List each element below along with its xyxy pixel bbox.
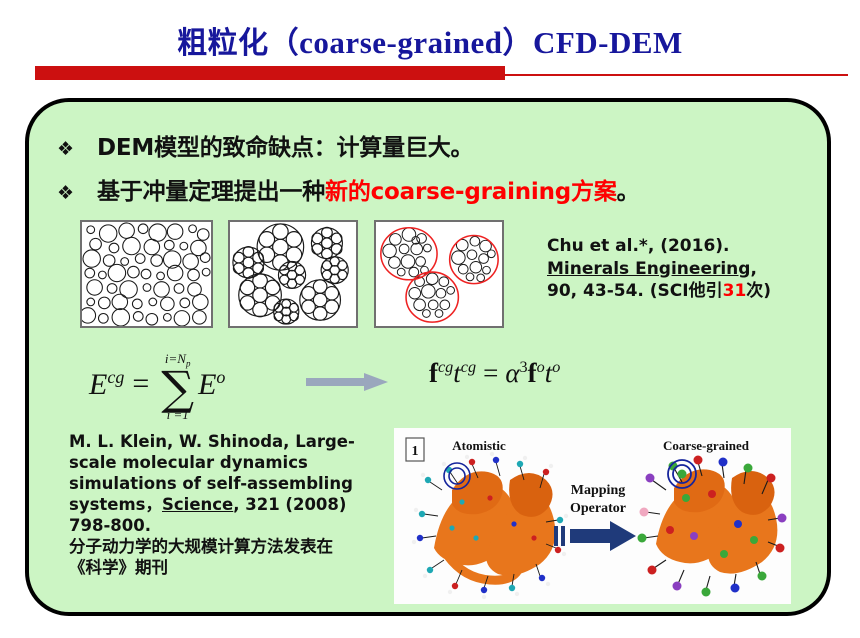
page-title-tail: CFD-DEM: [533, 25, 683, 60]
citation-chu: Chu et al.*, (2016). Minerals Engineerin…: [547, 235, 837, 303]
citation-chu-count: 31: [723, 281, 747, 301]
eq-r-alpha-sup: 3: [520, 358, 528, 376]
eq-lhs: Ecg: [89, 367, 124, 402]
page-title-cjk-close: ）: [502, 26, 533, 61]
coarse-grained-label: Coarse-grained: [663, 438, 750, 453]
bullet-diamond-icon: ❖: [57, 138, 97, 160]
mapping-label-line1: Mapping: [571, 483, 625, 498]
citation-klein-line7: 《科学》期刊: [69, 558, 389, 579]
citation-chu-line3-post: 次): [746, 281, 771, 301]
citation-klein-line5: 798-800.: [69, 516, 389, 537]
bullet-item-1-label: DEM模型的致命缺点：计算量巨大。: [97, 128, 473, 162]
citation-klein-line1: M. L. Klein, W. Shinoda, Large-: [69, 432, 389, 453]
eq-r-f2: f: [528, 358, 537, 388]
eq-lhs-sym: E: [89, 368, 107, 401]
original-particles-graphic: [82, 222, 211, 326]
citation-chu-pages: 90, 43-54. (SCI他引: [547, 281, 723, 301]
eq-r-t1: t: [453, 358, 461, 388]
eq-r-sup3: o: [537, 358, 545, 376]
bullet-item-2-tail: 。: [617, 179, 640, 205]
eq-summand: Eo: [198, 367, 225, 402]
eq-summand-sup: o: [216, 367, 225, 387]
title-underline-thick: [35, 66, 505, 80]
grouped-particles-box: [228, 220, 358, 328]
panel-number-label: 1: [412, 444, 419, 459]
eq-r-f1: f: [429, 358, 438, 388]
bullet-item-2-label: 基于冲量定理提出一种新的coarse-graining方案。: [97, 172, 639, 206]
eq-r-sup2: cg: [461, 358, 476, 376]
citation-klein-line3: simulations of self-assembling: [69, 474, 389, 495]
bullet-item-2-highlight: 新的coarse-graining方案: [325, 179, 617, 205]
eq-r-sup1: cg: [438, 358, 453, 376]
mapping-operator-graphic: 1 Atomistic Coarse-grained: [394, 428, 791, 604]
eq-r-alpha: α: [505, 358, 519, 388]
eq-summand-sym: E: [198, 368, 216, 401]
bullet-item-2-lead: 基于冲量定理提出一种: [97, 179, 325, 205]
citation-klein-line4: systems，Science, 321 (2008): [69, 495, 389, 516]
citation-klein-journal: Science: [162, 495, 233, 514]
grouped-particles-graphic: [230, 222, 356, 326]
original-particles-box: [80, 220, 213, 328]
mapping-operator-figure: 1 Atomistic Coarse-grained: [394, 428, 791, 604]
equation-row: Ecg = i=Np ∑ i =1 Eo fcgtcg=α3foto: [69, 342, 809, 424]
eq-sum-lower: i =1: [167, 408, 189, 421]
equation-right: fcgtcg=α3foto: [429, 358, 560, 389]
bullet-item-1: ❖ DEM模型的致命缺点：计算量巨大。: [57, 128, 473, 162]
page-title-cjk: 粗粒化（: [177, 26, 299, 61]
eq-summation: i=Np ∑ i =1: [161, 352, 194, 421]
citation-klein-line6: 分子动力学的大规模计算方法发表在: [69, 537, 389, 558]
page-title-latin: coarse-grained: [299, 25, 502, 60]
coarse-grained-particles-box: [374, 220, 504, 328]
citation-chu-line1: Chu et al.*, (2016).: [547, 235, 837, 258]
transform-arrow-icon: [306, 372, 388, 392]
citation-chu-line2-comma: ,: [750, 259, 756, 279]
citation-klein-line2: scale molecular dynamics: [69, 453, 389, 474]
coarse-grained-particles-graphic: [376, 222, 502, 326]
mapping-label-line2: Operator: [570, 501, 626, 516]
eq-equals: =: [132, 367, 149, 401]
citation-chu-journal: Minerals Engineering: [547, 259, 750, 279]
page-title: 粗粒化（coarse-grained）CFD-DEM: [0, 18, 860, 62]
citation-klein: M. L. Klein, W. Shinoda, Large- scale mo…: [69, 432, 389, 579]
citation-chu-line2: Minerals Engineering,: [547, 258, 837, 281]
coarse-grained-highlight-bead: [678, 470, 687, 479]
content-panel: ❖ DEM模型的致命缺点：计算量巨大。 ❖ 基于冲量定理提出一种新的coarse…: [25, 98, 831, 616]
eq-sum-sign: ∑: [161, 369, 194, 408]
eq-r-equals: =: [483, 358, 498, 388]
eq-lhs-sup: cg: [107, 367, 124, 387]
atomistic-label: Atomistic: [452, 438, 506, 453]
citation-klein-line4-pre: systems，: [69, 495, 162, 514]
equation-left: Ecg = i=Np ∑ i =1 Eo: [89, 350, 225, 419]
citation-chu-line3: 90, 43-54. (SCI他引31次): [547, 280, 837, 303]
citation-klein-line4-post: , 321 (2008): [233, 495, 346, 514]
bullet-item-2: ❖ 基于冲量定理提出一种新的coarse-graining方案。: [57, 172, 639, 206]
bullet-diamond-icon: ❖: [57, 182, 97, 204]
eq-r-sup4: o: [552, 358, 560, 376]
